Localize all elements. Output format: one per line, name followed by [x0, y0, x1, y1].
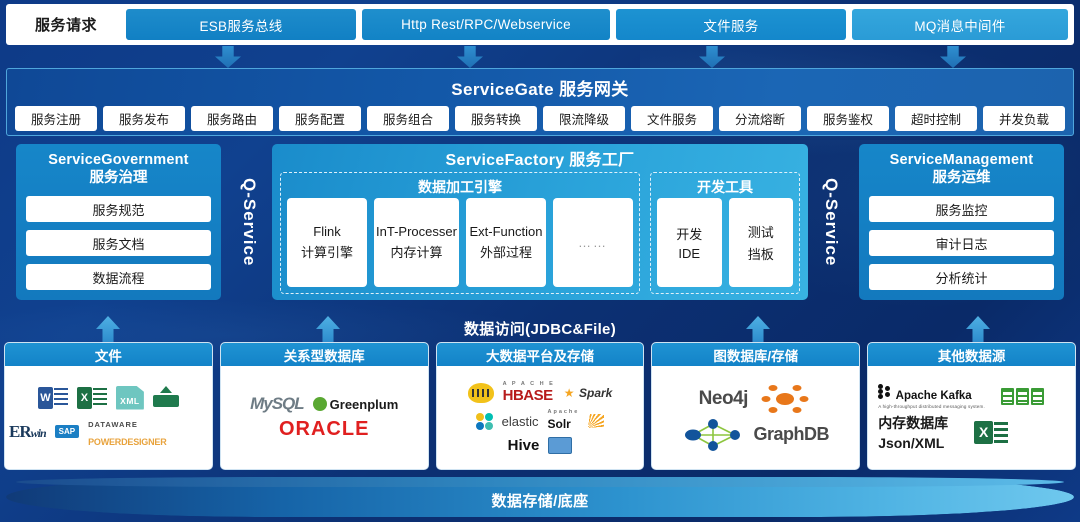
- service-management-panel: ServiceManagement 服务运维 服务监控 审计日志 分析统计: [859, 144, 1064, 300]
- source-panel-graph-db-body: Neo4j: [652, 366, 859, 469]
- kafka-icon: Apache Kafka A high-throughput distribut…: [878, 384, 985, 409]
- service-government-title-en: ServiceGovernment: [26, 151, 211, 169]
- gate-capability[interactable]: 服务配置: [279, 106, 361, 131]
- gate-capability[interactable]: 限流降级: [543, 106, 625, 131]
- xml-icon: XML: [116, 386, 144, 410]
- oracle-icon: ORACLE: [279, 418, 369, 441]
- source-panel-bigdata-title: 大数据平台及存储: [437, 343, 644, 366]
- governance-item[interactable]: 数据流程: [26, 264, 211, 290]
- data-processing-engine-title: 数据加工引擎: [287, 176, 633, 198]
- service-gate-panel: ServiceGate 服务网关 服务注册 服务发布 服务路由 服务配置 服务组…: [6, 68, 1074, 136]
- channel-http[interactable]: Http Rest/RPC/Webservice: [362, 9, 610, 40]
- hive-bee-icon: [468, 383, 494, 403]
- greenplum-mark: [313, 397, 327, 411]
- channel-file[interactable]: 文件服务: [616, 9, 846, 40]
- bigdata-logo-row-3: Hive: [508, 437, 573, 454]
- word-icon: W: [38, 386, 68, 410]
- engine-card-more[interactable]: ……: [553, 198, 633, 287]
- engine-card-line2: 计算引擎: [301, 242, 353, 261]
- engine-card-int-processer[interactable]: InT-Processer 内存计算: [374, 198, 459, 287]
- service-request-label: 服务请求: [12, 14, 120, 35]
- graph-logo-row-1: Neo4j: [699, 384, 813, 414]
- channel-esb-label: ESB服务总线: [199, 15, 282, 35]
- service-government-panel: ServiceGovernment 服务治理 服务规范 服务文档 数据流程: [16, 144, 221, 300]
- kafka-tagline: A high-throughput distributed messaging …: [878, 404, 985, 409]
- gate-capability[interactable]: 服务注册: [15, 106, 97, 131]
- engine-card-line1: Ext-Function: [469, 224, 542, 239]
- green-table-icon: [1001, 388, 1044, 405]
- erwin-sub: win: [31, 426, 46, 440]
- service-government-title-cn: 服务治理: [26, 169, 211, 188]
- other-logo-row-2: 内存数据库 Json/XML X: [878, 413, 1008, 451]
- erwin-main: ER: [9, 422, 31, 441]
- neo4j-label: Neo4j: [699, 388, 748, 410]
- kafka-dots: [878, 384, 891, 399]
- elastic-dot: [485, 422, 493, 430]
- gate-capability[interactable]: 超时控制: [895, 106, 977, 131]
- service-management-title-en: ServiceManagement: [869, 151, 1054, 169]
- gate-capability[interactable]: 服务路由: [191, 106, 273, 131]
- service-government-title: ServiceGovernment 服务治理: [26, 151, 211, 188]
- json-xml-label: Json/XML: [878, 435, 948, 451]
- erwin-icon: ERwin: [9, 422, 46, 442]
- data-access-band: 数据访问(JDBC&File): [0, 312, 1080, 344]
- tools-card-line1: 测试: [748, 222, 774, 241]
- engine-card-line1: InT-Processer: [376, 224, 457, 239]
- database-icon: [153, 386, 179, 409]
- mysql-label: MySQL: [250, 394, 304, 413]
- other-logo-row-1: Apache Kafka A high-throughput distribut…: [878, 384, 1044, 409]
- arrow-down-icon: [940, 46, 966, 68]
- sap-icon: SAP: [55, 425, 79, 438]
- channel-mq-label: MQ消息中间件: [914, 15, 1005, 35]
- excel-icon-lines: [93, 388, 107, 408]
- neo4j-graph-icon: [683, 418, 745, 452]
- service-management-title-cn: 服务运维: [869, 169, 1054, 188]
- tools-card-ide[interactable]: 开发 IDE: [657, 198, 722, 287]
- service-management-title: ServiceManagement 服务运维: [869, 151, 1054, 188]
- engine-card-line1: ……: [578, 235, 608, 250]
- source-panel-graph-db: 图数据库/存储 Neo4j: [651, 342, 860, 470]
- platform-label: 数据存储/底座: [6, 477, 1074, 517]
- dataware-label: DATAWARE: [88, 420, 138, 429]
- gate-capability[interactable]: 服务组合: [367, 106, 449, 131]
- source-panel-bigdata-body: A P A C H E HBASE ★ Spark ela: [437, 366, 644, 469]
- channel-http-label: Http Rest/RPC/Webservice: [401, 17, 571, 32]
- gate-capability[interactable]: 并发负载: [983, 106, 1065, 131]
- source-panel-other-title: 其他数据源: [868, 343, 1075, 366]
- graphdb-node-icon: [757, 384, 813, 414]
- development-tools-title: 开发工具: [657, 176, 793, 198]
- engine-card-ext-function[interactable]: Ext-Function 外部过程: [466, 198, 546, 287]
- graph-logo-row-2: GraphDB: [683, 418, 830, 452]
- solr-icon: Apache Solr: [547, 409, 579, 433]
- excel-icon-letter: X: [77, 387, 92, 409]
- source-panel-file: 文件 W X XML: [4, 342, 213, 470]
- solr-apache-label: Apache: [547, 409, 579, 415]
- database-icon-body: [153, 395, 179, 407]
- word-icon-lines: [54, 388, 68, 408]
- service-factory-panel: ServiceFactory 服务工厂 数据加工引擎 Flink 计算引擎 In…: [272, 144, 808, 300]
- hbase-icon: A P A C H E HBASE: [503, 381, 555, 405]
- spark-star: ★: [564, 386, 575, 400]
- source-panel-relational-db-body: MySQL Greenplum ORACLE: [221, 366, 428, 469]
- tools-card-row: 开发 IDE 测试 挡板: [657, 198, 793, 287]
- mysql-icon: MySQL: [250, 394, 304, 414]
- service-gate-capability-list: 服务注册 服务发布 服务路由 服务配置 服务组合 服务转换 限流降级 文件服务 …: [7, 100, 1073, 131]
- service-factory-body: 数据加工引擎 Flink 计算引擎 InT-Processer 内存计算 Ext…: [280, 172, 800, 294]
- excel-sheet-icon: X: [974, 421, 1008, 444]
- hive-label: Hive: [508, 437, 540, 454]
- spark-icon: ★ Spark: [564, 384, 613, 402]
- q-service-label-right: Q-Service: [812, 144, 850, 300]
- memory-db-label: 内存数据库: [878, 413, 948, 433]
- gate-capability[interactable]: 服务发布: [103, 106, 185, 131]
- engine-card-line1: Flink: [313, 224, 340, 239]
- bigdata-logo-row-2: elastic Apache Solr: [476, 409, 605, 433]
- channel-esb[interactable]: ESB服务总线: [126, 9, 356, 40]
- arrow-down-icon: [215, 46, 241, 68]
- spark-label: Spark: [579, 386, 612, 400]
- relational-logo-row-1: MySQL Greenplum: [250, 394, 398, 414]
- source-panel-file-title: 文件: [5, 343, 212, 366]
- source-panel-other: 其他数据源 Apache Kafka A high-throughput dis…: [867, 342, 1076, 470]
- data-source-panels: 文件 W X XML: [4, 342, 1076, 470]
- hive-doc-icon: [548, 437, 572, 454]
- elastic-dot: [476, 422, 484, 430]
- tools-card-line2: IDE: [678, 246, 700, 261]
- engine-card-line2: 内存计算: [390, 242, 442, 261]
- kafka-label: Apache Kafka: [896, 390, 972, 402]
- source-panel-relational-db: 关系型数据库 MySQL Greenplum ORACLE: [220, 342, 429, 470]
- excel-icon: X: [77, 386, 107, 410]
- file-logo-row-1: W X XML: [38, 386, 179, 410]
- source-panel-bigdata: 大数据平台及存储 A P A C H E HBASE ★ Spark: [436, 342, 645, 470]
- management-item[interactable]: 审计日志: [869, 230, 1054, 256]
- governance-item[interactable]: 服务文档: [26, 230, 211, 256]
- tools-card-test[interactable]: 测试 挡板: [729, 198, 794, 287]
- source-panel-file-body: W X XML ERwin SAP: [5, 366, 212, 469]
- engine-card-flink[interactable]: Flink 计算引擎: [287, 198, 367, 287]
- other-text-block: 内存数据库 Json/XML: [878, 413, 948, 451]
- greenplum-label: Greenplum: [330, 397, 399, 412]
- source-panel-other-body: Apache Kafka A high-throughput distribut…: [868, 366, 1075, 469]
- powerdesigner-logo: DATAWARE POWERDESIGNER: [88, 414, 208, 450]
- powerdesigner-label: POWERDESIGNER: [88, 437, 166, 447]
- graphdb-label: GraphDB: [754, 424, 830, 445]
- hbase-label: HBASE: [503, 387, 553, 404]
- gate-capability[interactable]: 文件服务: [631, 106, 713, 131]
- elasticsearch-icon: [476, 413, 493, 430]
- channel-mq[interactable]: MQ消息中间件: [852, 9, 1068, 40]
- arrow-down-icon: [699, 46, 725, 68]
- file-logo-row-2: ERwin SAP DATAWARE POWERDESIGNER: [9, 414, 208, 450]
- arrow-down-icon: [457, 46, 483, 68]
- elastic-dot: [476, 413, 484, 421]
- elastic-dot: [485, 413, 493, 421]
- elastic-label: elastic: [502, 414, 539, 429]
- source-panel-graph-db-title: 图数据库/存储: [652, 343, 859, 366]
- engine-card-line2: 外部过程: [480, 242, 532, 261]
- middle-row: ServiceGovernment 服务治理 服务规范 服务文档 数据流程 Q-…: [6, 142, 1074, 308]
- bigdata-logo-row-1: A P A C H E HBASE ★ Spark: [468, 381, 613, 405]
- development-tools-group: 开发工具 开发 IDE 测试 挡板: [650, 172, 800, 294]
- tools-card-line2: 挡板: [748, 244, 774, 263]
- service-gate-title: ServiceGate 服务网关: [7, 69, 1073, 100]
- solr-label: Solr: [547, 417, 570, 431]
- database-icon-top: [160, 386, 172, 393]
- gate-capability[interactable]: 分流熔断: [719, 106, 801, 131]
- greenplum-icon: Greenplum: [313, 397, 399, 412]
- excel-sheet-letter: X: [974, 421, 993, 444]
- source-panel-relational-db-title: 关系型数据库: [221, 343, 428, 366]
- q-service-label-left: Q-Service: [230, 144, 268, 300]
- management-item[interactable]: 服务监控: [869, 196, 1054, 222]
- service-factory-title: ServiceFactory 服务工厂: [280, 150, 800, 172]
- word-icon-letter: W: [38, 387, 53, 409]
- channel-file-label: 文件服务: [703, 15, 758, 35]
- engine-card-row: Flink 计算引擎 InT-Processer 内存计算 Ext-Functi…: [287, 198, 633, 287]
- data-storage-platform: 数据存储/底座: [6, 477, 1074, 517]
- gate-capability[interactable]: 服务鉴权: [807, 106, 889, 131]
- architecture-diagram: 服务请求 ESB服务总线 Http Rest/RPC/Webservice 文件…: [0, 0, 1080, 522]
- service-request-bar: 服务请求 ESB服务总线 Http Rest/RPC/Webservice 文件…: [6, 4, 1074, 45]
- gate-capability[interactable]: 服务转换: [455, 106, 537, 131]
- data-processing-engine-group: 数据加工引擎 Flink 计算引擎 InT-Processer 内存计算 Ext…: [280, 172, 640, 294]
- tools-card-line1: 开发: [676, 224, 702, 243]
- solr-fan-icon: [588, 414, 604, 428]
- relational-logo-row-2: ORACLE: [279, 418, 369, 441]
- governance-item[interactable]: 服务规范: [26, 196, 211, 222]
- excel-sheet-grid: [994, 422, 1008, 443]
- management-item[interactable]: 分析统计: [869, 264, 1054, 290]
- data-access-title: 数据访问(JDBC&File): [0, 318, 1080, 339]
